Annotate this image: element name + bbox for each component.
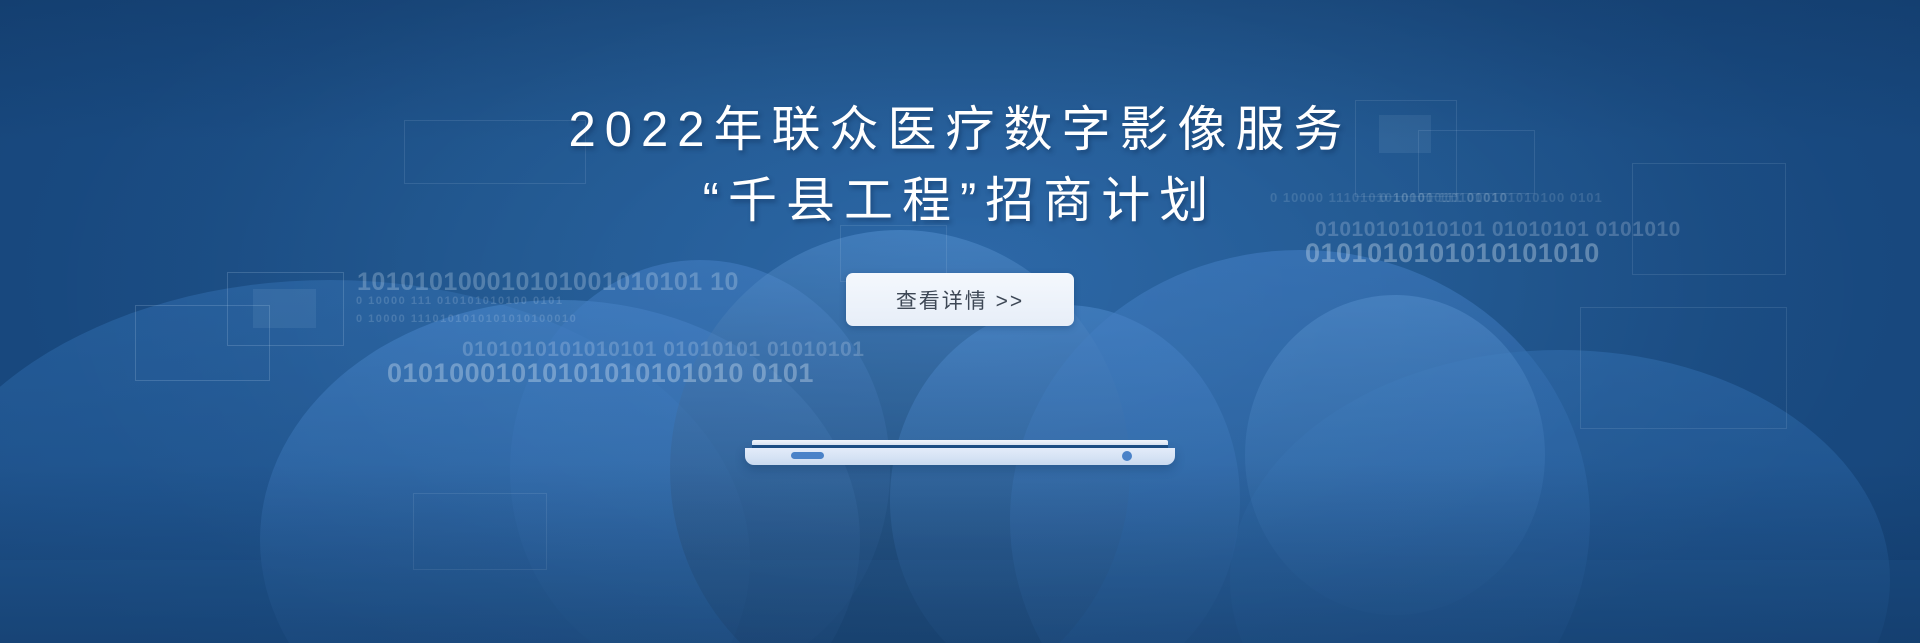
- headline-line-2: “千县工程”招商计划: [703, 169, 1218, 234]
- banner-content: 2022年联众医疗数字影像服务 “千县工程”招商计划 查看详情 >>: [0, 0, 1920, 643]
- laptop-base-illustration: [745, 440, 1175, 468]
- laptop-trackpad-accent: [791, 452, 824, 459]
- view-details-button[interactable]: 查看详情 >>: [846, 273, 1074, 326]
- headline-line-1: 2022年联众医疗数字影像服务: [568, 98, 1351, 163]
- promo-banner: 101010100010101001010101 10 0 10000 111 …: [0, 0, 1920, 643]
- laptop-indicator-dot: [1122, 451, 1132, 461]
